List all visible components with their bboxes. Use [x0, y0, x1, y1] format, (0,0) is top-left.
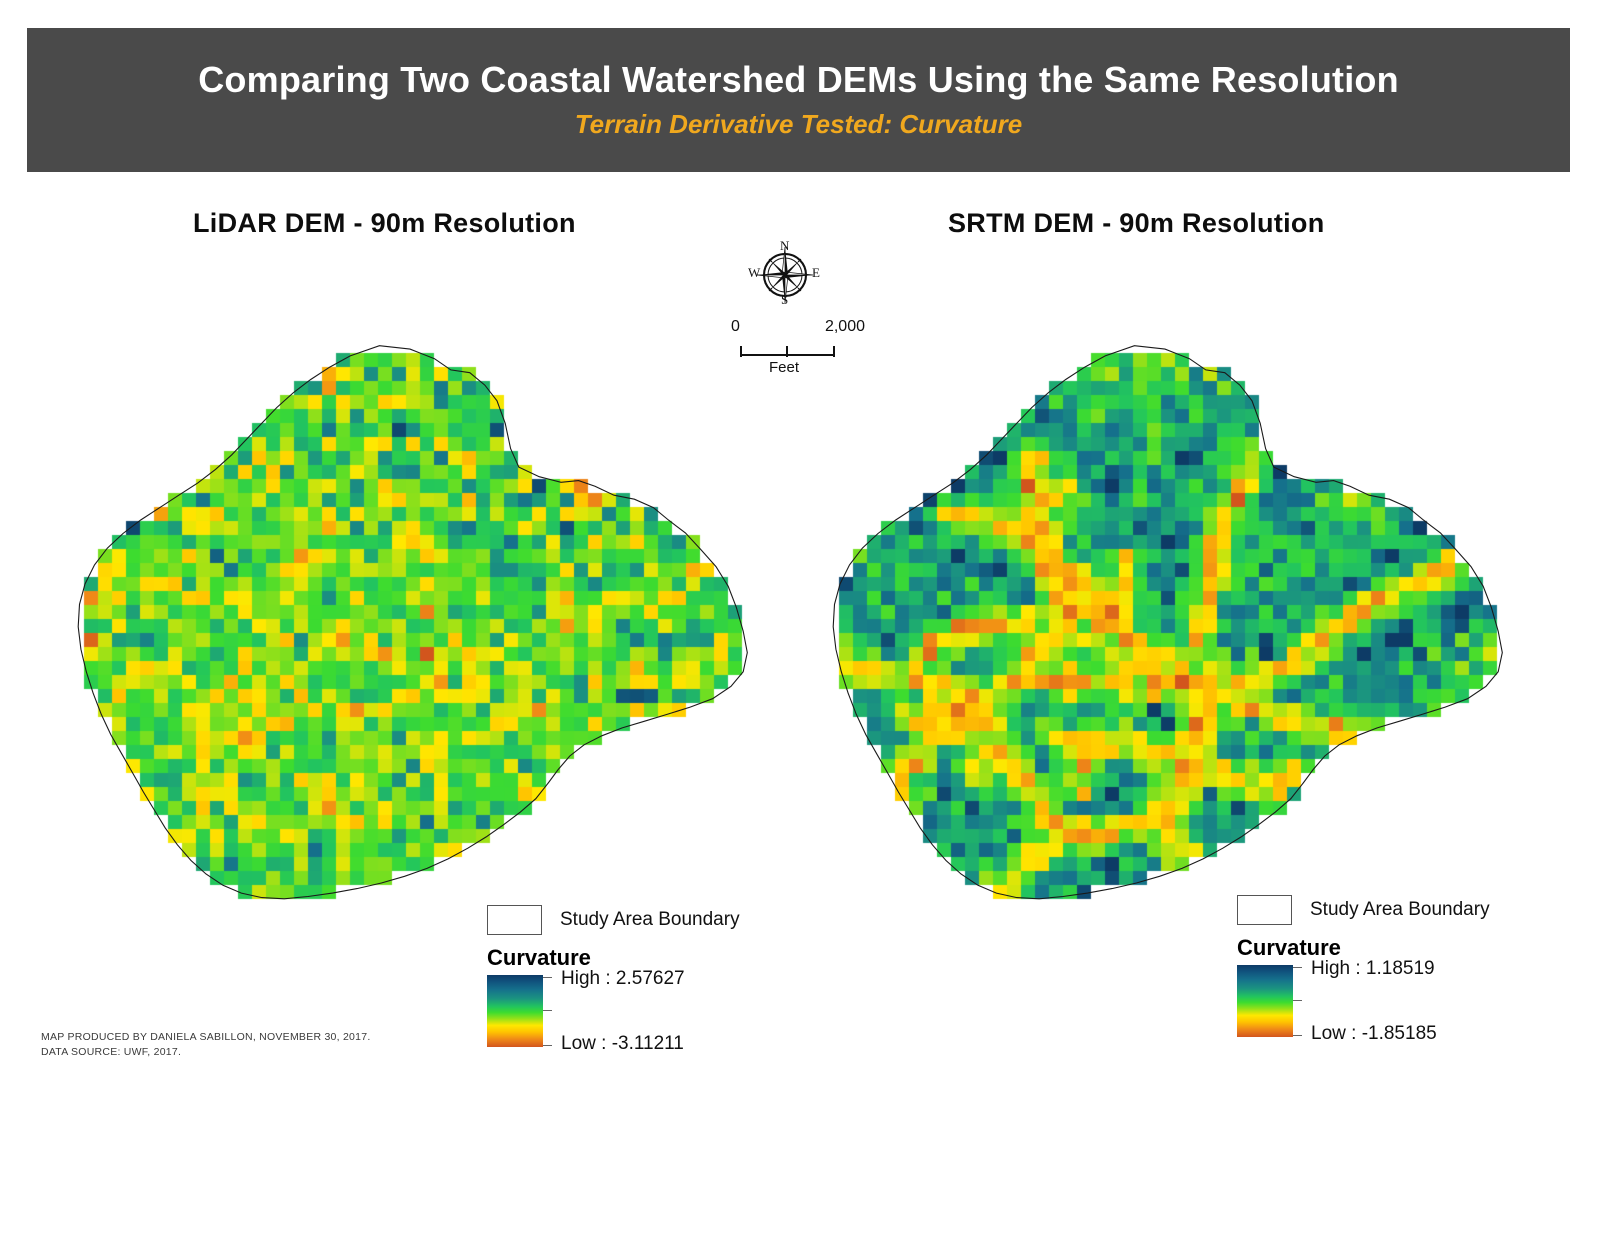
boundary-swatch-icon	[487, 905, 542, 935]
legend-low-value: Low : -1.85185	[1311, 1023, 1437, 1045]
study-area-boundary-path	[78, 346, 747, 899]
map-title-right: SRTM DEM - 90m Resolution	[948, 208, 1325, 239]
legend-low-value: Low : -3.11211	[561, 1033, 684, 1055]
map-title-left: LiDAR DEM - 90m Resolution	[193, 208, 576, 239]
legend-boundary-row: Study Area Boundary	[487, 905, 771, 935]
study-area-boundary-srtm	[795, 325, 1535, 915]
map-panel-srtm[interactable]	[795, 325, 1535, 915]
legend-color-ramp-block: High : 2.57627 Low : -3.11211	[487, 975, 771, 1047]
map-panel-lidar[interactable]	[40, 325, 780, 915]
legend-high-value: High : 1.18519	[1311, 958, 1435, 980]
boundary-swatch-icon	[1237, 895, 1292, 925]
legend-ramp-ticks	[543, 975, 553, 1047]
credits-line-2: DATA SOURCE: UWF, 2017.	[41, 1045, 370, 1060]
compass-label-east: E	[812, 265, 820, 281]
legend-high-value: High : 2.57627	[561, 968, 685, 990]
ramp-tick-low	[1293, 1035, 1302, 1036]
legend-color-ramp-block: High : 1.18519 Low : -1.85185	[1237, 965, 1521, 1037]
ramp-tick-mid	[1293, 1000, 1302, 1001]
ramp-tick-high	[1293, 967, 1302, 968]
legend-lidar: Study Area Boundary Curvature High : 2.5…	[487, 905, 771, 1047]
compass-label-south: S	[781, 292, 788, 308]
study-area-boundary-path	[833, 346, 1502, 899]
ramp-tick-mid	[543, 1010, 552, 1011]
legend-ramp-values: High : 1.18519 Low : -1.85185	[1311, 965, 1521, 1037]
legend-boundary-row: Study Area Boundary	[1237, 895, 1521, 925]
study-area-boundary-lidar	[40, 325, 780, 915]
page-subtitle: Terrain Derivative Tested: Curvature	[575, 109, 1022, 140]
color-ramp-icon	[1237, 965, 1293, 1037]
compass-label-west: W	[748, 265, 760, 281]
page-title: Comparing Two Coastal Watershed DEMs Usi…	[198, 60, 1399, 100]
color-ramp-icon	[487, 975, 543, 1047]
ramp-tick-high	[543, 977, 552, 978]
ramp-tick-low	[543, 1045, 552, 1046]
legend-srtm: Study Area Boundary Curvature High : 1.1…	[1237, 895, 1521, 1037]
legend-boundary-label: Study Area Boundary	[560, 909, 740, 931]
legend-ramp-ticks	[1293, 965, 1303, 1037]
compass-label-north: N	[780, 238, 789, 254]
header-banner: Comparing Two Coastal Watershed DEMs Usi…	[27, 28, 1570, 172]
scale-bar-tick-mid	[786, 346, 788, 357]
legend-boundary-label: Study Area Boundary	[1310, 899, 1490, 921]
map-credits: MAP PRODUCED BY DANIELA SABILLON, NOVEMB…	[41, 1030, 370, 1060]
credits-line-1: MAP PRODUCED BY DANIELA SABILLON, NOVEMB…	[41, 1030, 370, 1045]
legend-ramp-values: High : 2.57627 Low : -3.11211	[561, 975, 771, 1047]
